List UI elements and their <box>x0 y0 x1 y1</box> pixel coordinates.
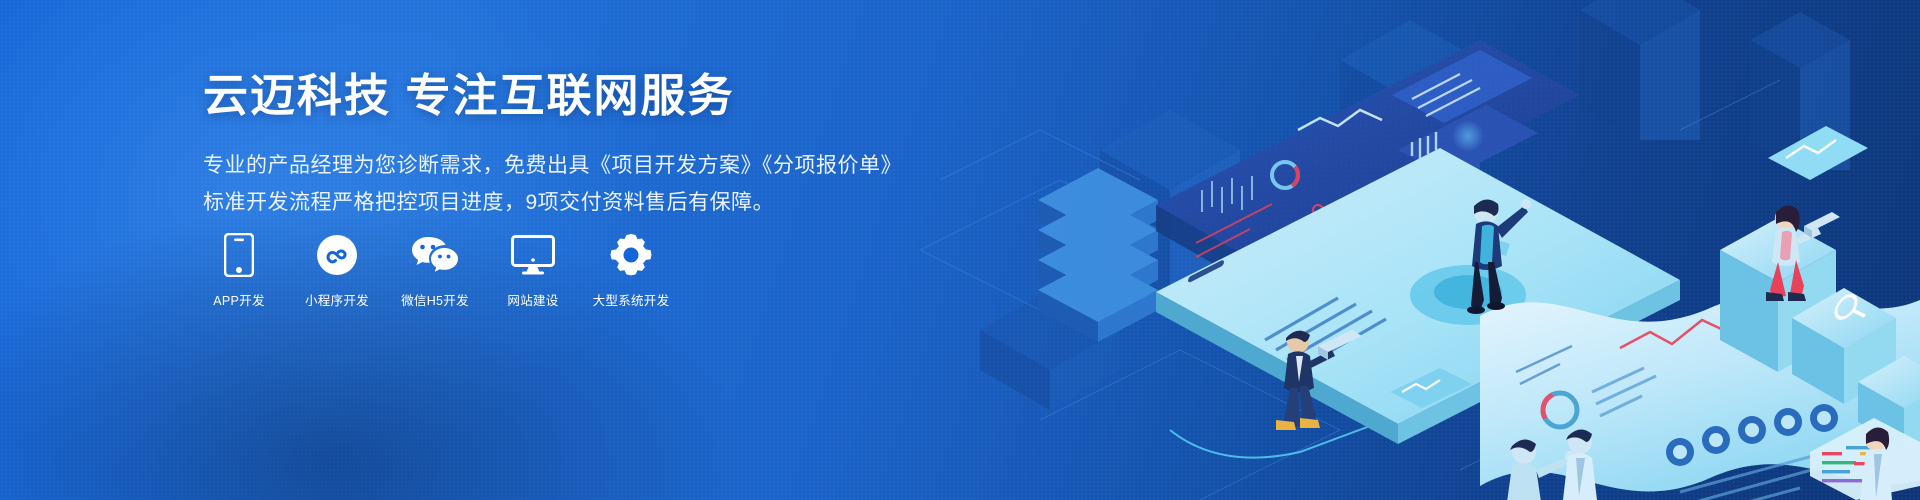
background-glow-bottom <box>0 180 780 500</box>
service-item-website[interactable]: 网站建设 <box>497 232 569 309</box>
service-label: 大型系统开发 <box>593 290 670 309</box>
service-label: 小程序开发 <box>305 290 369 309</box>
service-label: 微信H5开发 <box>401 290 469 309</box>
mobile-phone-icon <box>224 232 254 278</box>
monitor-icon <box>511 232 555 278</box>
service-item-app[interactable]: APP开发 <box>203 232 275 309</box>
isometric-tech-illustration <box>920 0 1920 500</box>
subtitle-line-2: 标准开发流程严格把控项目进度，9项交付资料售后有保障。 <box>203 185 903 222</box>
banner-subtitle: 专业的产品经理为您诊断需求，免费出具《项目开发方案》《分项报价单》 标准开发流程… <box>203 148 903 222</box>
service-label: 网站建设 <box>507 290 558 309</box>
server-stack <box>1038 168 1158 342</box>
wechat-icon <box>411 232 459 278</box>
service-icon-row: APP开发 小程序开发 <box>203 232 667 309</box>
service-label: APP开发 <box>213 290 265 309</box>
banner-copy: 云迈科技 专注互联网服务 专业的产品经理为您诊断需求，免费出具《项目开发方案》《… <box>203 70 903 221</box>
page-title: 云迈科技 专注互联网服务 <box>203 70 903 122</box>
service-item-mini-program[interactable]: 小程序开发 <box>301 232 373 309</box>
service-item-wechat-h5[interactable]: 微信H5开发 <box>399 232 471 309</box>
mini-program-icon <box>316 232 358 278</box>
gear-icon <box>609 232 653 278</box>
promo-banner: 云迈科技 专注互联网服务 专业的产品经理为您诊断需求，免费出具《项目开发方案》《… <box>0 0 1920 500</box>
service-item-large-system[interactable]: 大型系统开发 <box>595 232 667 309</box>
subtitle-line-1: 专业的产品经理为您诊断需求，免费出具《项目开发方案》《分项报价单》 <box>203 148 903 185</box>
